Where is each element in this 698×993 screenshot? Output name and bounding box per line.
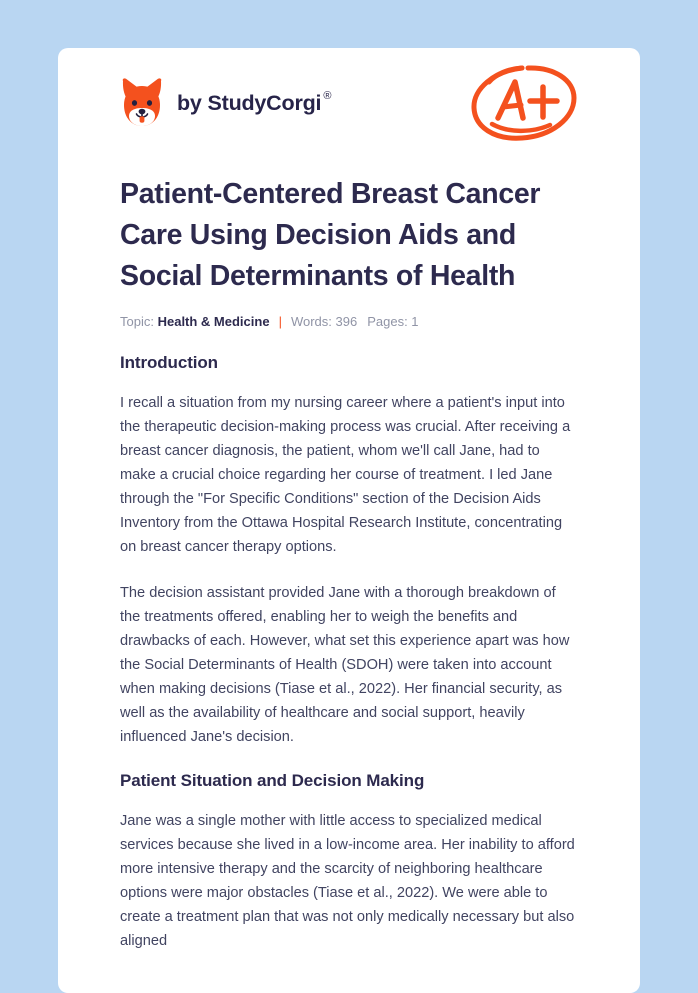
document-header: by StudyCorgi® — [120, 48, 578, 152]
paragraph: Jane was a single mother with little acc… — [120, 809, 578, 953]
studycorgi-brand[interactable]: by StudyCorgi® — [120, 77, 331, 129]
document-body: Introduction I recall a situation from m… — [120, 329, 578, 993]
meta-word-count: Words: 396 — [291, 314, 357, 329]
meta-topic-label: Topic: — [120, 314, 154, 329]
section-heading-introduction: Introduction — [120, 353, 578, 373]
document-sheet: by StudyCorgi® — [58, 48, 640, 993]
paragraph: The decision assistant provided Jane wit… — [120, 581, 578, 749]
corgi-face-icon — [120, 77, 164, 129]
meta-topic-link[interactable]: Health & Medicine — [158, 314, 270, 329]
meta-separator: | — [279, 314, 282, 329]
page-title: Patient-Centered Breast Cancer Care Usin… — [120, 174, 578, 297]
meta-page-count: Pages: 1 — [367, 314, 418, 329]
brand-name-text: by StudyCorgi — [177, 91, 321, 116]
registered-trademark-mark: ® — [323, 90, 331, 102]
section-heading-patient-situation: Patient Situation and Decision Making — [120, 771, 578, 791]
paragraph: I recall a situation from my nursing car… — [120, 391, 578, 559]
document-meta: Topic: Health & Medicine|Words: 396Pages… — [120, 314, 578, 329]
brand-name: by StudyCorgi® — [177, 91, 331, 116]
a-plus-grade-icon — [470, 60, 578, 146]
